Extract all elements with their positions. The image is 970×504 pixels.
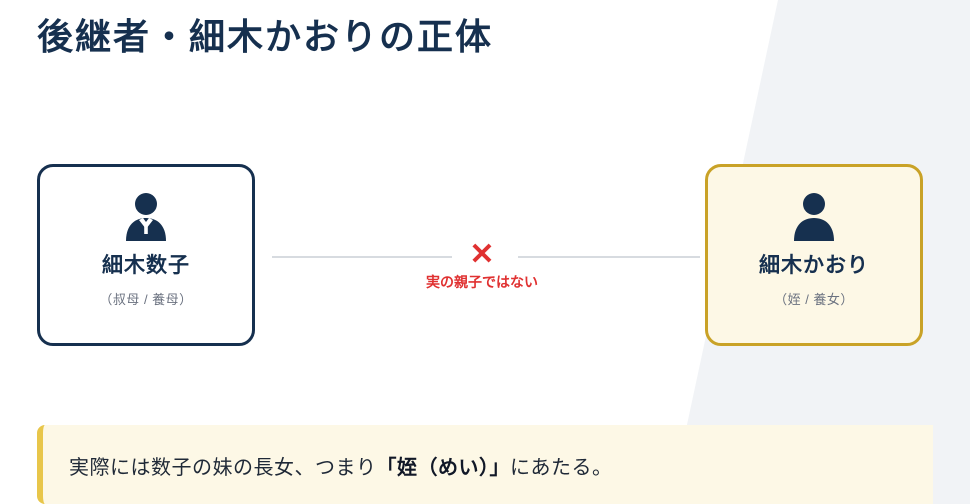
person-name: 細木数子 [40, 249, 252, 279]
note-box: 実際には数子の妹の長女、つまり「姪（めい）」にあたる。 [37, 425, 933, 504]
note-text-strong: 「姪（めい）」 [377, 457, 511, 479]
person-name: 細木かおり [708, 249, 920, 279]
relation-label: 実の親子ではない [382, 272, 582, 292]
person-role: （叔母 / 養母） [40, 289, 252, 308]
note-text-before: 実際には数子の妹の長女、つまり [69, 457, 377, 479]
person-role: （姪 / 養女） [708, 289, 920, 308]
person-card-right: 細木かおり （姪 / 養女） [705, 164, 923, 346]
page-title: 後継者・細木かおりの正体 [37, 8, 493, 60]
person-card-left: 細木数子 （叔母 / 養母） [37, 164, 255, 346]
note-text-after: にあたる。 [510, 457, 613, 479]
person-suit-icon [118, 191, 174, 241]
person-icon [786, 191, 842, 241]
cross-icon: ✕ [462, 240, 502, 270]
diagram-canvas: 後継者・細木かおりの正体 ✕ 実の親子ではない 細木数子 （叔母 / 養母） 細… [0, 0, 970, 504]
note-text: 実際には数子の妹の長女、つまり「姪（めい）」にあたる。 [43, 425, 933, 480]
